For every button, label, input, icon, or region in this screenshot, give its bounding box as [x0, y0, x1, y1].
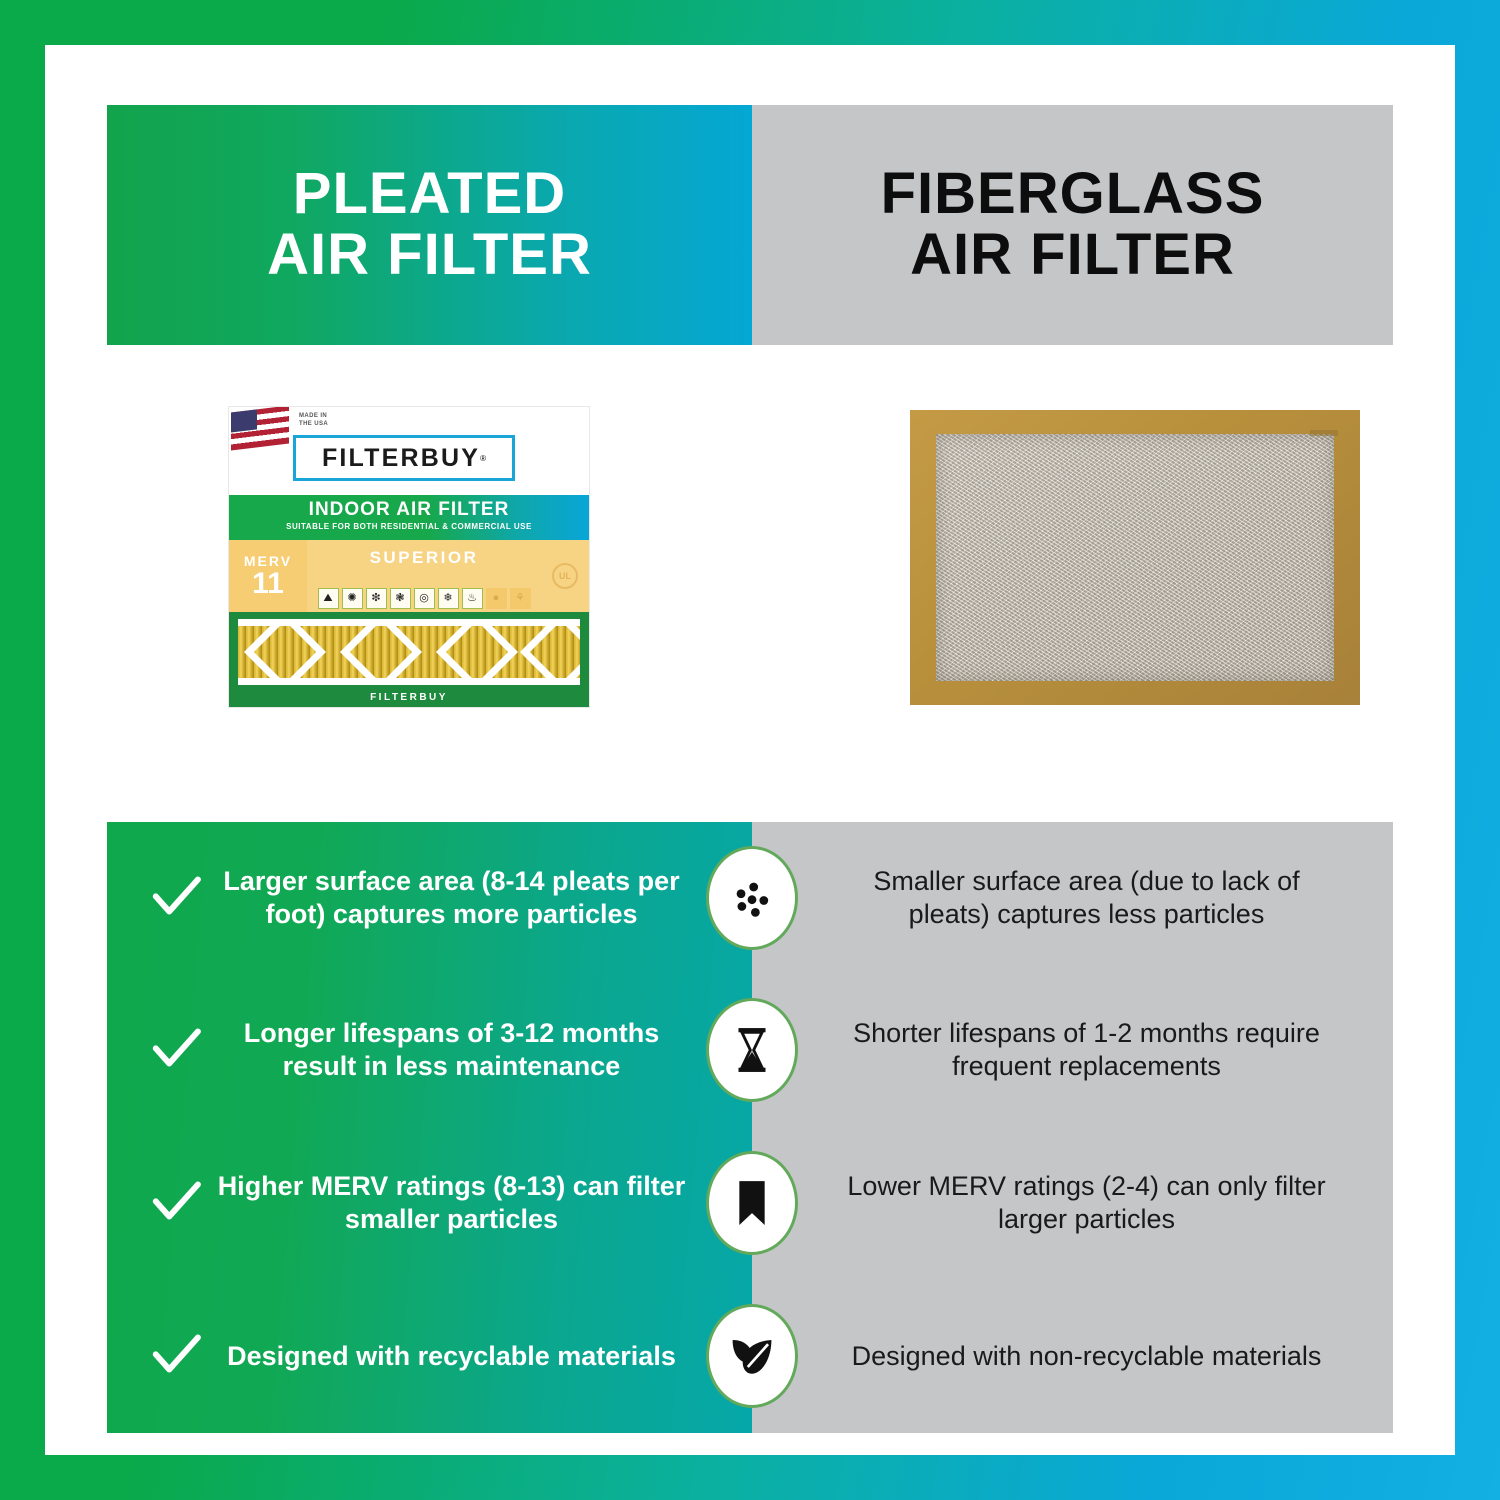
- pleat-media-graphic: [238, 619, 580, 685]
- fiber-icon: ⚘: [510, 588, 531, 609]
- fiberglass-filter-image: [910, 410, 1360, 705]
- grade-cell: SUPERIOR ⛰ ✺ ❇ ❃ ◎ ❄ ♨ ● ⚘: [307, 540, 541, 612]
- checkmark-icon: [145, 1329, 207, 1383]
- checkmark-icon: [145, 1023, 207, 1077]
- row-right: Designed with non-recyclable materials: [752, 1280, 1393, 1432]
- pet-dander-icon: ❄: [438, 588, 459, 609]
- checkmark-icon: [145, 1176, 207, 1230]
- comparison-row: Designed with recyclable materials Desig…: [107, 1280, 1393, 1432]
- made-in-usa-line2: THE USA: [299, 421, 328, 429]
- mold-spore-icon: ❃: [390, 588, 411, 609]
- usa-flag-icon: [231, 407, 289, 451]
- header-fiberglass-line2: AIR FILTER: [881, 225, 1265, 286]
- fiberglass-product-cell: [750, 345, 1393, 777]
- checkmark-icon: [145, 871, 207, 925]
- row-right-text: Designed with non-recyclable materials: [830, 1340, 1343, 1373]
- header-fiberglass: FIBERGLASS AIR FILTER: [752, 105, 1393, 345]
- made-in-usa-label: MADE IN THE USA: [299, 413, 328, 428]
- smoke-icon: ♨: [462, 588, 483, 609]
- row-right-text: Smaller surface area (due to lack of ple…: [830, 865, 1343, 931]
- row-left-text: Higher MERV ratings (8-13) can filter sm…: [207, 1170, 722, 1236]
- fiberglass-media: [936, 434, 1334, 681]
- header-pleated-title: PLEATED AIR FILTER: [267, 164, 592, 286]
- row-left: Designed with recyclable materials: [107, 1280, 752, 1432]
- box-top-panel: MADE IN THE USA FILTERBUY®: [229, 407, 589, 495]
- wire-diamond: [436, 619, 518, 685]
- hourglass-icon: [706, 998, 798, 1102]
- wire-diamond: [244, 619, 326, 685]
- dust-mite-icon: ✺: [342, 588, 363, 609]
- vacuum-icon: ⛰: [318, 588, 339, 609]
- box-pleat-panel: FILTERBUY: [229, 612, 589, 707]
- content-stage: PLEATED AIR FILTER FIBERGLASS AIR FILTER: [45, 45, 1455, 1455]
- box-banner: INDOOR AIR FILTER SUITABLE FOR BOTH RESI…: [229, 495, 589, 540]
- filterbuy-box-image: MADE IN THE USA FILTERBUY® INDOOR AIR FI…: [229, 407, 589, 707]
- comparison-row: Longer lifespans of 3-12 months result i…: [107, 974, 1393, 1126]
- ul-certification-icon: UL: [552, 563, 578, 589]
- made-in-usa-line1: MADE IN: [299, 413, 328, 421]
- merv-cell: MERV 11: [229, 540, 307, 612]
- filterbuy-logo: FILTERBUY®: [293, 435, 515, 481]
- row-left: Higher MERV ratings (8-13) can filter sm…: [107, 1127, 752, 1279]
- merv-value: 11: [252, 569, 284, 599]
- comparison-row: Higher MERV ratings (8-13) can filter sm…: [107, 1127, 1393, 1279]
- leaf-icon: [706, 1304, 798, 1408]
- wire-diamond: [520, 619, 580, 685]
- header-fiberglass-title: FIBERGLASS AIR FILTER: [881, 164, 1265, 286]
- row-right: Lower MERV ratings (2-4) can only filter…: [752, 1127, 1393, 1279]
- row-left: Larger surface area (8-14 pleats per foo…: [107, 822, 752, 974]
- row-left-text: Longer lifespans of 3-12 months result i…: [207, 1017, 722, 1083]
- header-pleated: PLEATED AIR FILTER: [107, 105, 752, 345]
- comparison-row: Larger surface area (8-14 pleats per foo…: [107, 822, 1393, 974]
- pollen-icon: ❇: [366, 588, 387, 609]
- certification-cell: UL: [541, 540, 589, 612]
- row-left-text: Designed with recyclable materials: [207, 1340, 722, 1373]
- header-pleated-line2: AIR FILTER: [267, 225, 592, 286]
- bookmark-icon: [706, 1151, 798, 1255]
- filterbuy-logo-text: FILTERBUY: [322, 444, 480, 473]
- box-footer-brand: FILTERBUY: [229, 692, 589, 703]
- product-images-row: MADE IN THE USA FILTERBUY® INDOOR AIR FI…: [107, 345, 1393, 777]
- pill-icon: ●: [486, 588, 507, 609]
- outer-gradient-frame: PLEATED AIR FILTER FIBERGLASS AIR FILTER: [0, 0, 1500, 1500]
- header-fiberglass-line1: FIBERGLASS: [881, 164, 1265, 225]
- wire-diamond: [340, 619, 422, 685]
- box-feature-icon-strip: ⛰ ✺ ❇ ❃ ◎ ❄ ♨ ● ⚘: [315, 588, 533, 609]
- headers-row: PLEATED AIR FILTER FIBERGLASS AIR FILTER: [107, 105, 1393, 345]
- header-pleated-line1: PLEATED: [267, 164, 592, 225]
- row-right-text: Shorter lifespans of 1-2 months require …: [830, 1017, 1343, 1083]
- box-merv-panel: MERV 11 SUPERIOR ⛰ ✺ ❇ ❃ ◎ ❄: [229, 540, 589, 612]
- box-banner-title: INDOOR AIR FILTER: [229, 499, 589, 521]
- row-left: Longer lifespans of 3-12 months result i…: [107, 974, 752, 1126]
- fiberglass-frame-notch: [1310, 430, 1338, 436]
- pleated-product-cell: MADE IN THE USA FILTERBUY® INDOOR AIR FI…: [107, 345, 750, 777]
- row-right-text: Lower MERV ratings (2-4) can only filter…: [830, 1170, 1343, 1236]
- particles-icon: [706, 846, 798, 950]
- registered-mark: ®: [480, 454, 486, 463]
- box-banner-subtitle: SUITABLE FOR BOTH RESIDENTIAL & COMMERCI…: [229, 522, 589, 531]
- bacteria-icon: ◎: [414, 588, 435, 609]
- grade-label: SUPERIOR: [307, 548, 541, 568]
- row-right: Shorter lifespans of 1-2 months require …: [752, 974, 1393, 1126]
- row-right: Smaller surface area (due to lack of ple…: [752, 822, 1393, 974]
- comparison-rows: Larger surface area (8-14 pleats per foo…: [107, 822, 1393, 1433]
- row-left-text: Larger surface area (8-14 pleats per foo…: [207, 865, 722, 931]
